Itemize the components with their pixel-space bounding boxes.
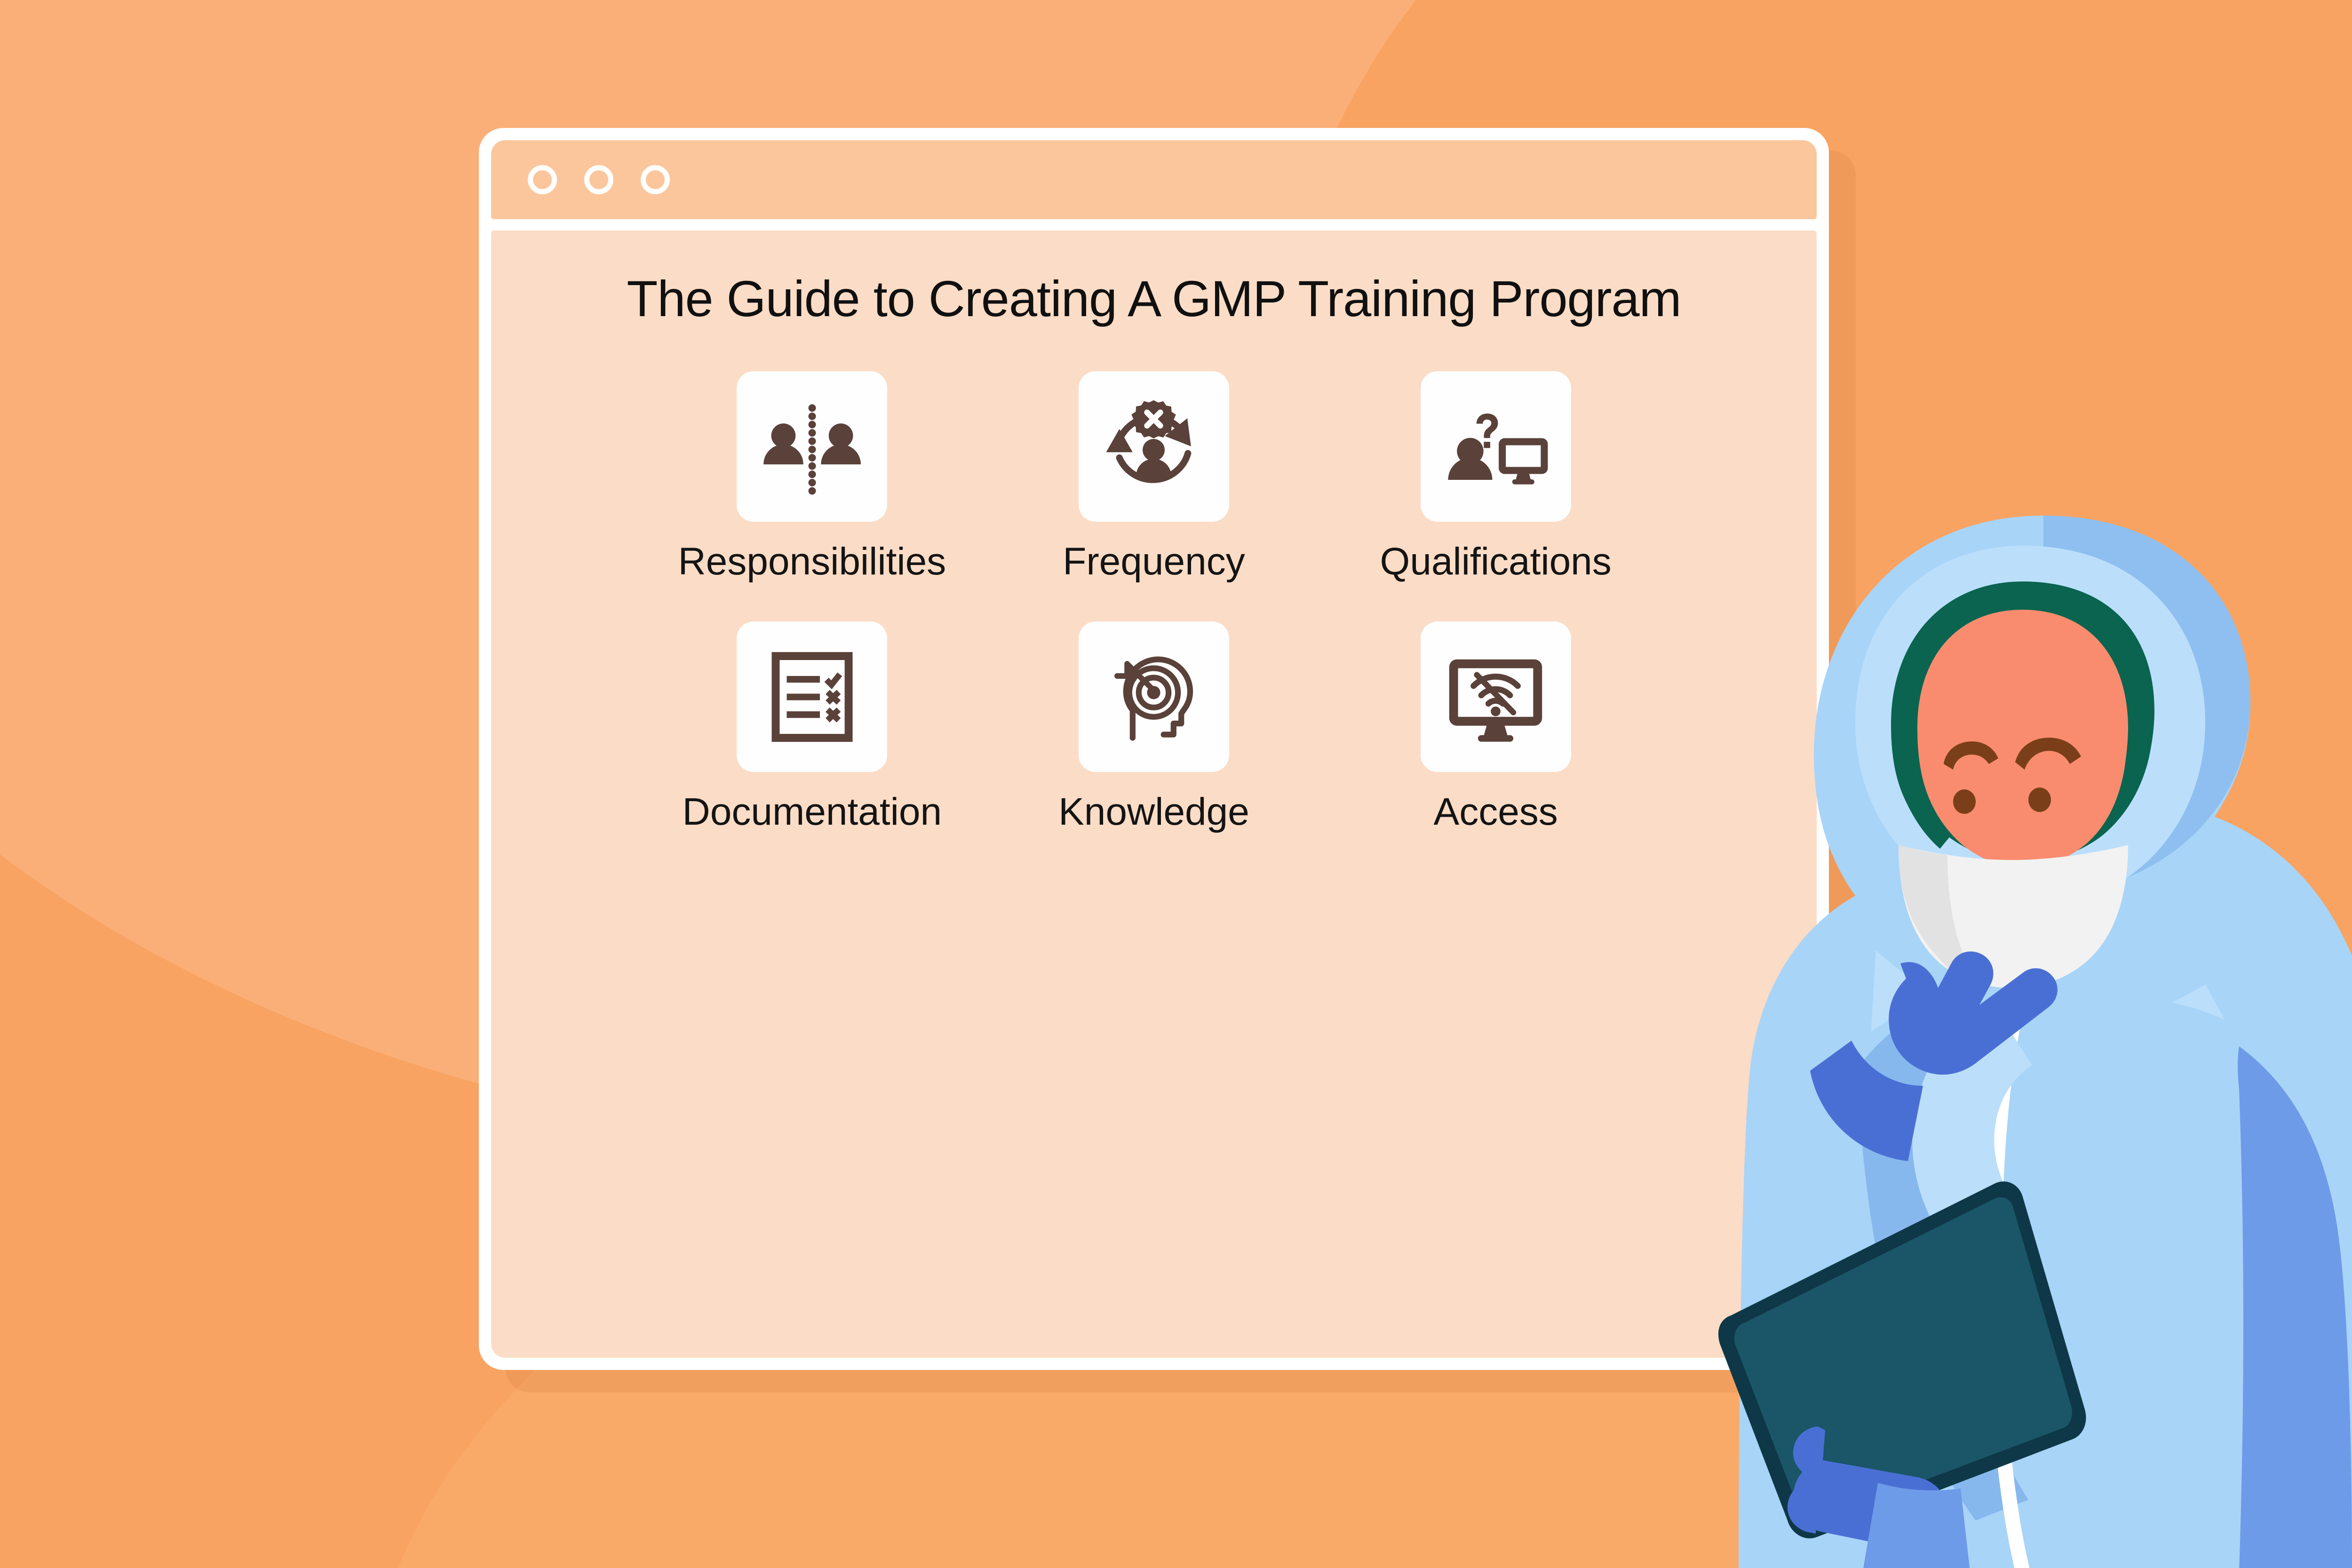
face: [1917, 610, 2128, 868]
browser-window: The Guide to Creating A GMP Training Pro…: [479, 128, 1829, 1370]
window-dot-maximize[interactable]: [641, 165, 670, 194]
card-icon-tile: [1079, 621, 1229, 772]
monitor-wifi-off-icon: [1440, 642, 1551, 752]
card-label: Frequency: [1063, 542, 1245, 581]
person-gear-cycle-icon: [1098, 391, 1209, 502]
card-frequency[interactable]: Frequency: [983, 371, 1325, 581]
checklist-document-icon: [757, 642, 867, 752]
card-icon-tile: [737, 371, 887, 522]
ppe-arm-left-cuff: [1863, 1483, 1970, 1568]
window-dot-minimize[interactable]: [584, 165, 613, 194]
two-people-divided-icon: [757, 391, 867, 502]
card-label: Access: [1434, 793, 1558, 831]
eye-right: [2028, 788, 2051, 812]
ppe-worker-illustration: [1712, 508, 2352, 1568]
card-grid: Responsibilities: [641, 371, 1667, 831]
card-documentation[interactable]: Documentation: [641, 621, 983, 831]
card-qualifications[interactable]: Qualifications: [1325, 371, 1667, 581]
card-label: Knowledge: [1058, 793, 1249, 831]
card-icon-tile: [1421, 371, 1571, 522]
card-label: Documentation: [683, 793, 942, 831]
ppe-worker-figure: [1712, 508, 2352, 1568]
card-knowledge[interactable]: Knowledge: [983, 621, 1325, 831]
card-responsibilities[interactable]: Responsibilities: [641, 371, 983, 581]
card-icon-tile: [1079, 371, 1229, 522]
page-title: The Guide to Creating A GMP Training Pro…: [491, 231, 1817, 328]
window-titlebar: [491, 140, 1817, 219]
card-icon-tile: [737, 621, 887, 772]
window-dot-close[interactable]: [528, 165, 557, 194]
window-content: The Guide to Creating A GMP Training Pro…: [491, 231, 1817, 1358]
eye-left: [1953, 789, 1976, 814]
card-access[interactable]: Access: [1325, 621, 1667, 831]
card-label: Qualifications: [1380, 542, 1612, 581]
card-label: Responsibilities: [678, 542, 946, 581]
illustration-canvas: The Guide to Creating A GMP Training Pro…: [0, 0, 2352, 1568]
person-question-monitor-icon: [1440, 391, 1551, 502]
card-icon-tile: [1421, 621, 1571, 772]
head-target-arrow-icon: [1098, 642, 1209, 752]
